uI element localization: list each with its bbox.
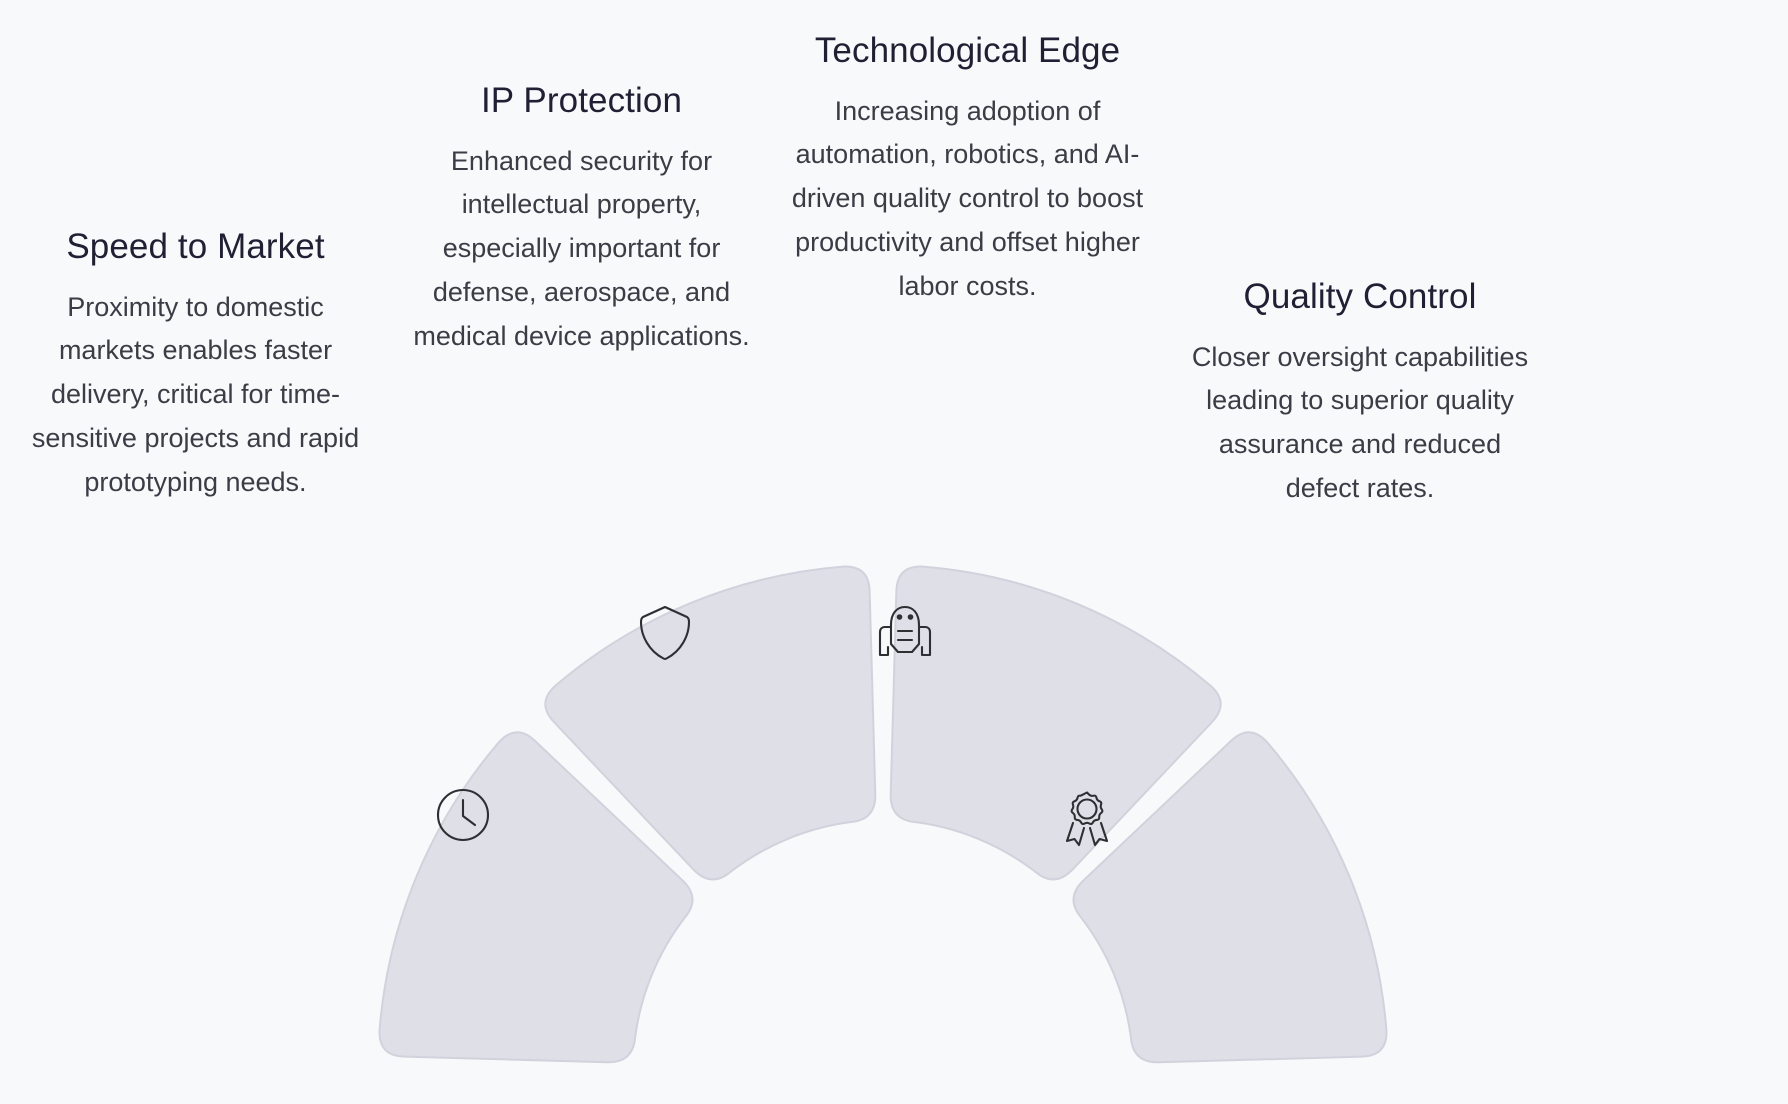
- feature-title-technological-edge: Technological Edge: [790, 26, 1145, 76]
- feature-description-speed-to-market: Proximity to domestic markets enables fa…: [18, 286, 373, 505]
- feature-text-block-quality-control: Quality Control Closer oversight capabil…: [1180, 272, 1540, 511]
- feature-title-ip-protection: IP Protection: [404, 76, 759, 126]
- feature-text-block-technological-edge: Technological Edge Increasing adoption o…: [790, 26, 1145, 308]
- feature-text-block-speed-to-market: Speed to Market Proximity to domestic ma…: [18, 222, 373, 504]
- feature-text-block-ip-protection: IP Protection Enhanced security for inte…: [404, 76, 759, 358]
- feature-description-technological-edge: Increasing adoption of automation, robot…: [790, 90, 1145, 309]
- infographic-canvas: Speed to Market Proximity to domestic ma…: [0, 0, 1788, 1104]
- feature-description-quality-control: Closer oversight capabilities leading to…: [1180, 336, 1540, 511]
- feature-title-quality-control: Quality Control: [1180, 272, 1540, 322]
- semicircular-segment-diagram: [330, 540, 1440, 1100]
- feature-description-ip-protection: Enhanced security for intellectual prope…: [404, 140, 759, 359]
- feature-title-speed-to-market: Speed to Market: [18, 222, 373, 272]
